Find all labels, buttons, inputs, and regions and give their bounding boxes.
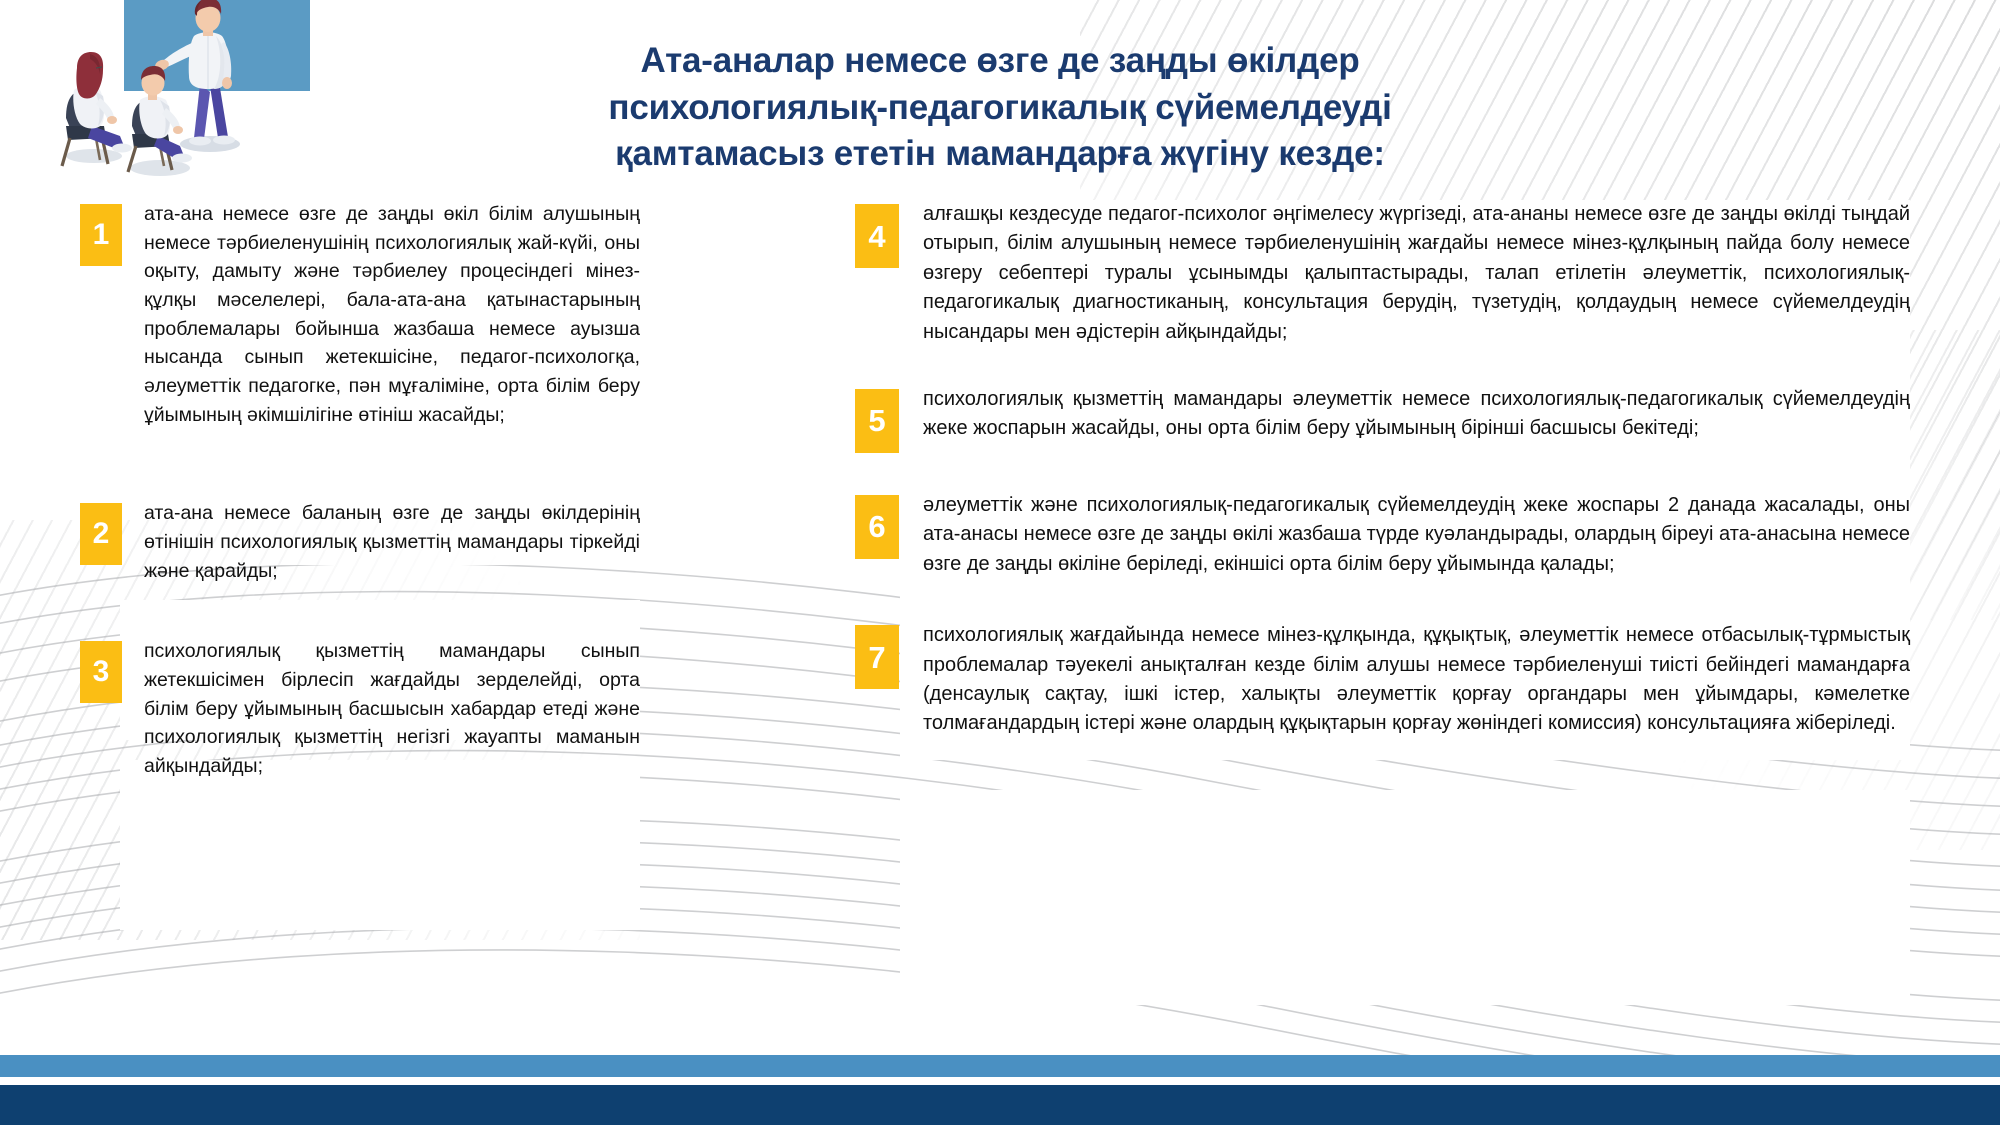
step-badge-1: 1 [80,204,122,266]
list-item: 2 ата-ана немесе баланың өзге де заңды ө… [80,499,640,585]
content-plate-left-bottom [120,760,640,930]
step-badge-3: 3 [80,641,122,703]
list-item: 4 алғашқы кездесуде педагог-психолог әңг… [855,200,1910,347]
step-badge-7: 7 [855,625,899,689]
right-column: 4 алғашқы кездесуде педагог-психолог әңг… [855,200,1910,739]
title-line-1: Ата-аналар немесе өзге де заңды өкілдер [500,38,1500,85]
list-item: 5 психологиялық қызметтің мамандары әлеу… [855,385,1910,453]
slide-canvas: Ата-аналар немесе өзге де заңды өкілдер … [0,0,2000,1125]
step-text-6: әлеуметтік және психологиялық-педагогика… [923,491,1910,579]
footer-accent-bar [0,1055,2000,1077]
footer-gap [0,1077,2000,1085]
step-text-7: психологиялық жағдайында немесе мінез-құ… [923,621,1910,739]
step-text-4: алғашқы кездесуде педагог-психолог әңгім… [923,200,1910,347]
left-column: 1 ата-ана немесе өзге де заңды өкіл білі… [80,200,640,781]
step-text-1: ата-ана немесе өзге де заңды өкіл білім … [144,200,640,429]
step-badge-5: 5 [855,389,899,453]
step-text-5: психологиялық қызметтің мамандары әлеуме… [923,385,1910,444]
title-line-2: психологиялық-педагогикалық сүйемелдеуді [500,85,1500,132]
list-item: 3 психологиялық қызметтің мамандары сыны… [80,637,640,780]
step-badge-2: 2 [80,503,122,565]
list-item: 1 ата-ана немесе өзге де заңды өкіл білі… [80,200,640,429]
page-title: Ата-аналар немесе өзге де заңды өкілдер … [500,38,1500,178]
list-item: 7 психологиялық жағдайында немесе мінез-… [855,621,1910,739]
step-text-2: ата-ана немесе баланың өзге де заңды өкі… [144,499,640,585]
step-badge-4: 4 [855,204,899,268]
content-plate-right-bottom [900,790,1910,1005]
footer-bar [0,1085,2000,1125]
list-item: 6 әлеуметтік және психологиялық-педагоги… [855,491,1910,579]
title-line-3: қамтамасыз ететін мамандарға жүгіну кезд… [500,131,1500,178]
step-text-3: психологиялық қызметтің мамандары сынып … [144,637,640,780]
consultation-illustration [28,0,328,191]
step-badge-6: 6 [855,495,899,559]
